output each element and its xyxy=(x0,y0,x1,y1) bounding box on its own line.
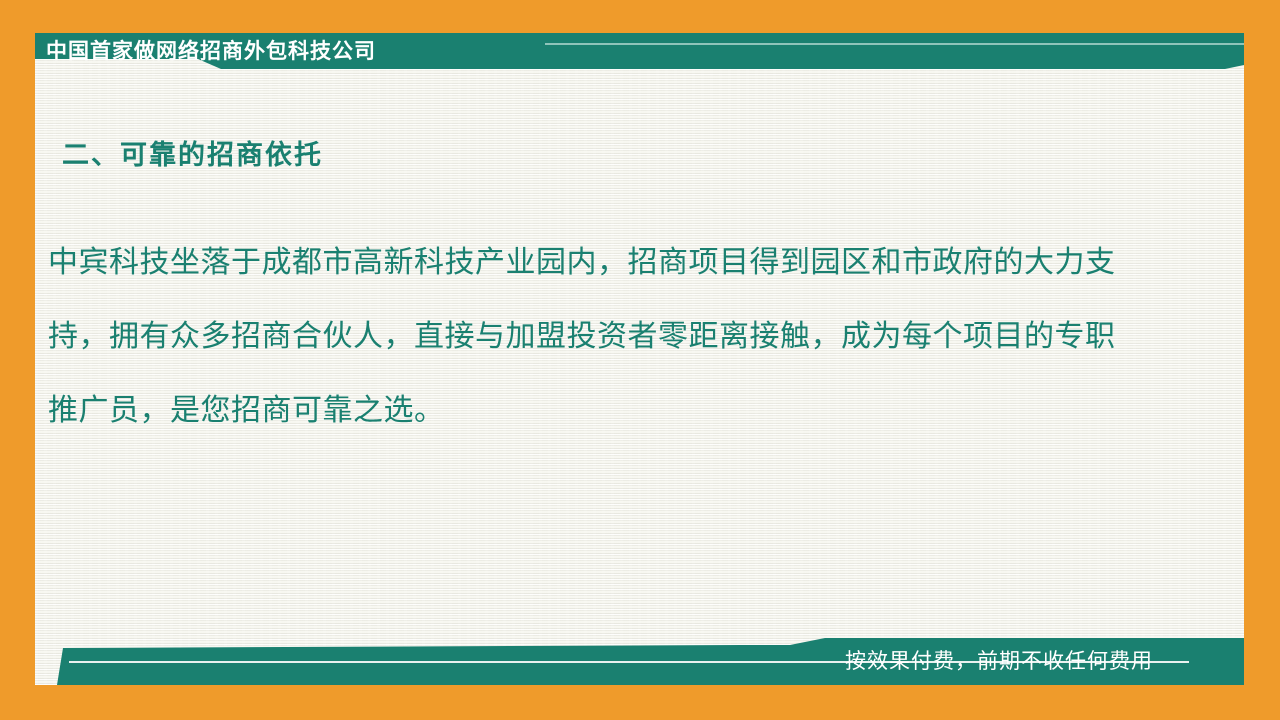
paragraph-line: 推广员，是您招商可靠之选。 xyxy=(48,374,1188,448)
body-paragraph: 中宾科技坐落于成都市高新科技产业园内，招商项目得到园区和市政府的大力支 持，拥有… xyxy=(48,226,1188,448)
footer-tagline: 按效果付费，前期不收任何费用 xyxy=(845,648,1235,676)
presentation-slide: 中国首家做网络招商外包科技公司 二、可靠的招商依托 中宾科技坐落于成都市高新科技… xyxy=(0,0,1280,720)
paragraph-line: 中宾科技坐落于成都市高新科技产业园内，招商项目得到园区和市政府的大力支 xyxy=(48,226,1188,300)
section-heading: 二、可靠的招商依托 xyxy=(62,133,323,172)
header-title: 中国首家做网络招商外包科技公司 xyxy=(46,38,516,66)
paragraph-line: 持，拥有众多招商合伙人，直接与加盟投资者零距离接触，成为每个项目的专职 xyxy=(48,300,1188,374)
